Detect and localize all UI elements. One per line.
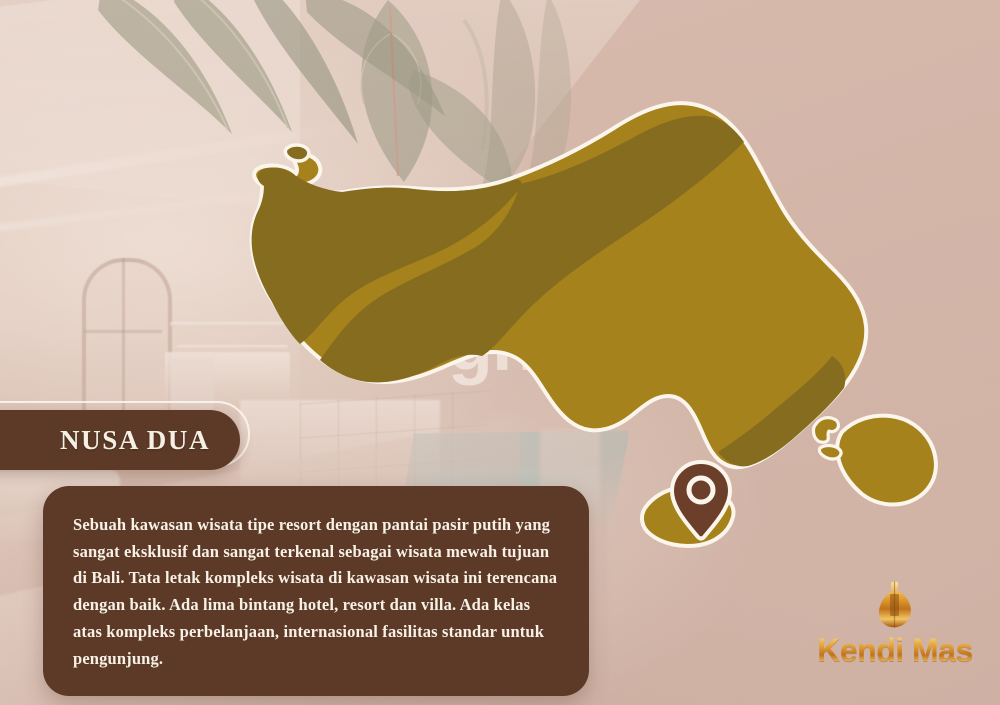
map-bali-mainland [252, 103, 867, 467]
map-nusa-penida [837, 416, 936, 505]
page-title: NUSA DUA [60, 425, 210, 456]
nusa-ceningan-shape [819, 446, 841, 459]
description-text: Sebuah kawasan wisata tipe resort dengan… [73, 512, 559, 672]
description-card: Sebuah kawasan wisata tipe resort dengan… [43, 486, 589, 696]
nusa-lembongan-shape [813, 418, 838, 443]
title-pill: NUSA DUA [0, 410, 240, 470]
bali-islet-menjangan [285, 145, 309, 161]
kendi-vessel-icon [800, 580, 990, 630]
poster-canvas: Brighton [0, 0, 1000, 705]
brand-logo: Kendi Mas [800, 580, 990, 680]
nusa-penida-shape [837, 416, 936, 505]
brand-name: Kendi Mas [800, 632, 990, 669]
